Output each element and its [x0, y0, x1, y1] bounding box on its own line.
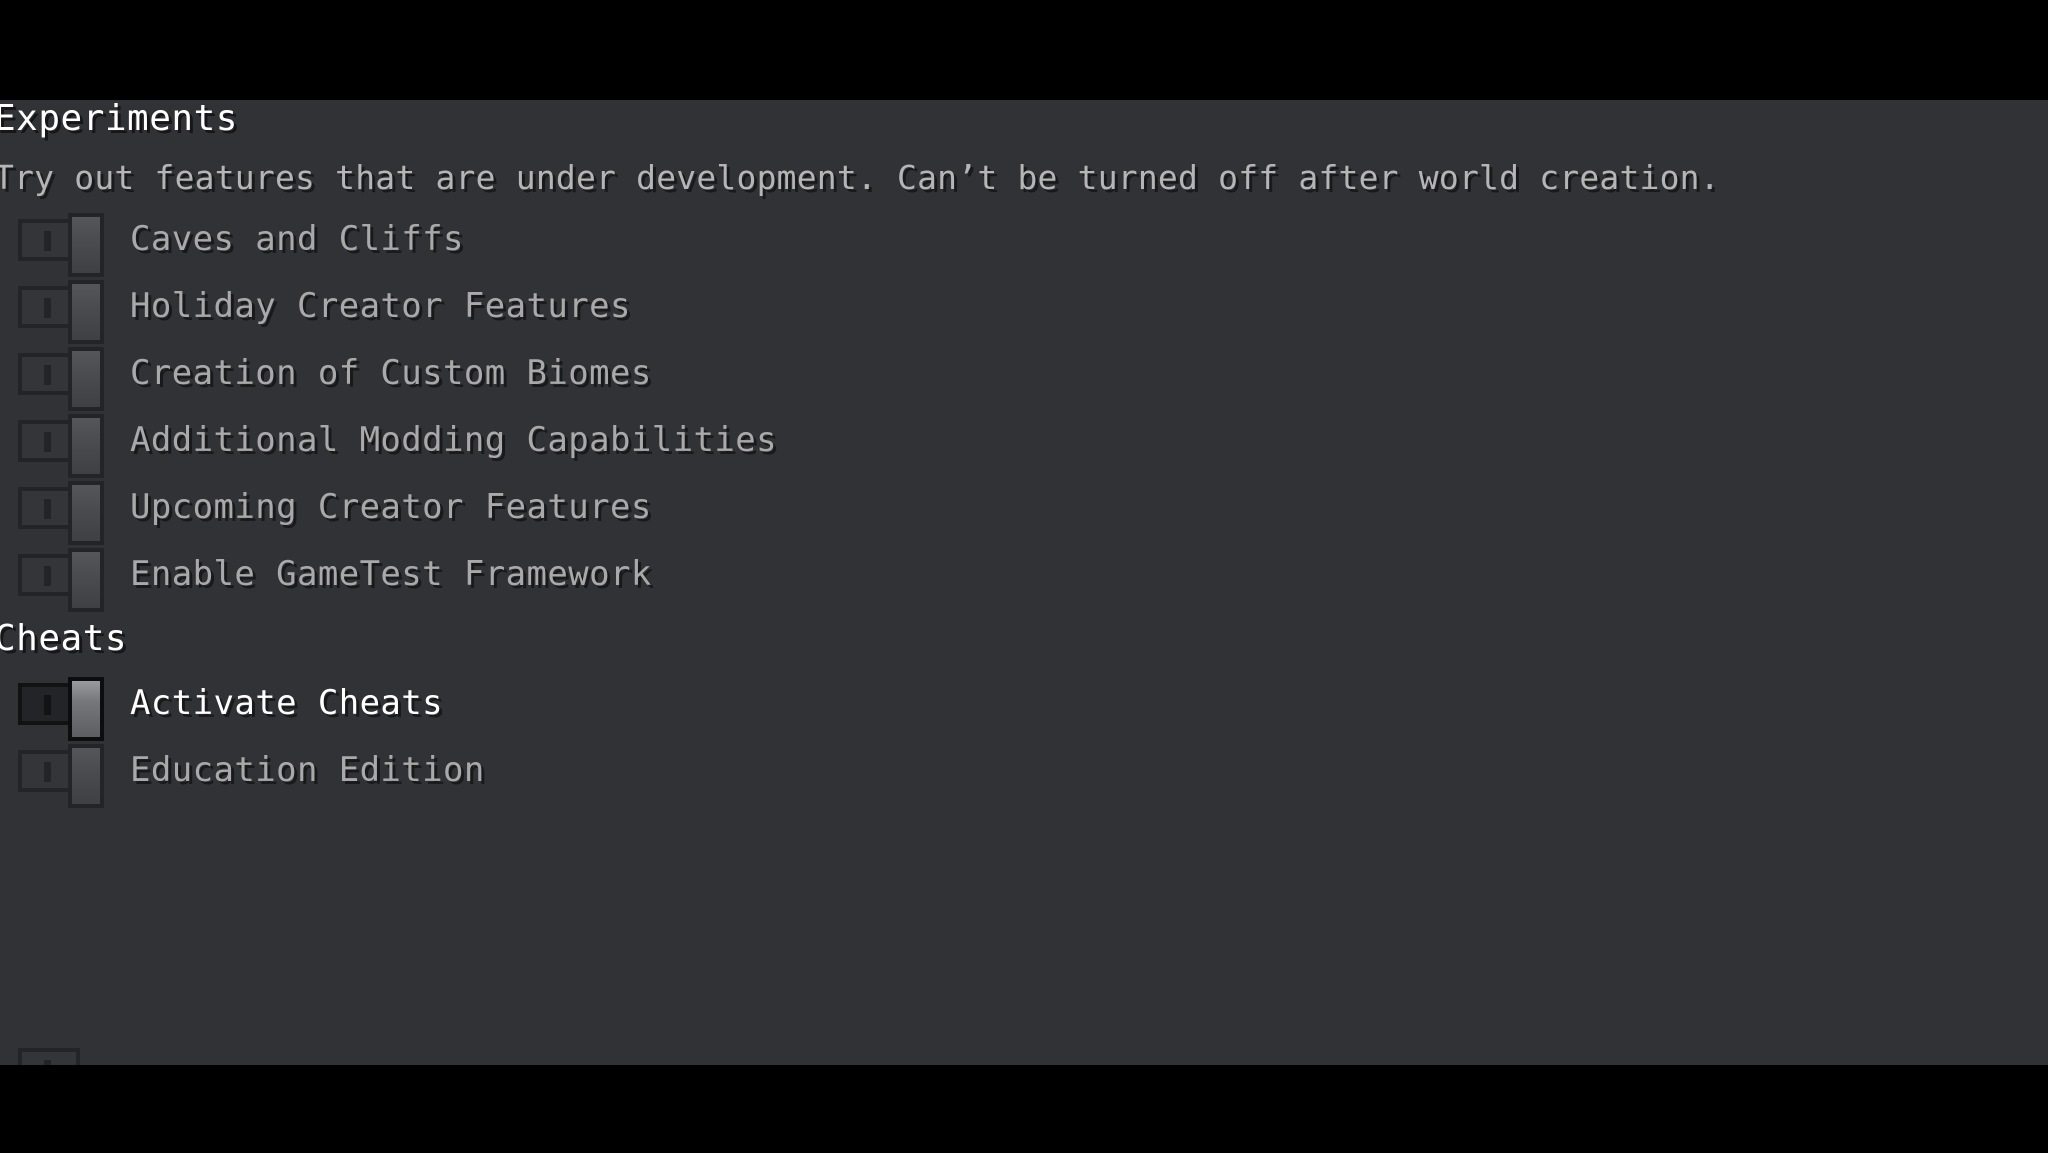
- toggle-row-enable-gametest-framework[interactable]: Enable GameTest Framework: [0, 543, 2048, 605]
- toggle-knob[interactable]: [68, 213, 104, 277]
- toggle-row-clipped-partial[interactable]: [0, 1042, 2048, 1065]
- toggle-row-creation-of-custom-biomes[interactable]: Creation of Custom Biomes: [0, 342, 2048, 404]
- toggle-switch-creation-of-custom-biomes[interactable]: [18, 347, 104, 399]
- toggle-knob[interactable]: [68, 347, 104, 411]
- toggle-knob[interactable]: [68, 744, 104, 808]
- toggle-switch-caves-and-cliffs[interactable]: [18, 213, 104, 265]
- toggle-label: Enable GameTest Framework: [130, 554, 652, 594]
- toggle-tick-icon: [44, 432, 51, 452]
- toggle-switch-enable-gametest-framework[interactable]: [18, 548, 104, 600]
- section-header-experiments: Experiments: [0, 100, 238, 139]
- toggle-tick-icon: [44, 695, 51, 715]
- toggle-tick-icon: [44, 231, 51, 251]
- toggle-label: Activate Cheats: [130, 683, 443, 723]
- section-description-experiments: Try out features that are under developm…: [0, 158, 1720, 197]
- letterbox-top: [0, 0, 2048, 100]
- toggle-switch-holiday-creator-features[interactable]: [18, 280, 104, 332]
- toggle-switch-additional-modding-capabilities[interactable]: [18, 414, 104, 466]
- letterbox-bottom: [0, 1065, 2048, 1153]
- toggle-tick-icon: [44, 298, 51, 318]
- toggle-switch-education-edition[interactable]: [18, 744, 104, 796]
- toggle-label: Additional Modding Capabilities: [130, 420, 777, 460]
- toggle-label: Education Edition: [130, 750, 485, 790]
- toggle-knob[interactable]: [68, 414, 104, 478]
- settings-scroll-viewport[interactable]: Experiments Try out features that are un…: [0, 100, 2048, 1065]
- toggle-label: Upcoming Creator Features: [130, 487, 652, 527]
- toggle-switch-upcoming-creator-features[interactable]: [18, 481, 104, 533]
- toggle-row-caves-and-cliffs[interactable]: Caves and Cliffs: [0, 208, 2048, 270]
- toggle-row-additional-modding-capabilities[interactable]: Additional Modding Capabilities: [0, 409, 2048, 471]
- toggle-knob[interactable]: [68, 280, 104, 344]
- toggle-row-holiday-creator-features[interactable]: Holiday Creator Features: [0, 275, 2048, 337]
- toggle-label: Holiday Creator Features: [130, 286, 631, 326]
- toggle-label: Caves and Cliffs: [130, 219, 464, 259]
- toggle-tick-icon: [44, 365, 51, 385]
- section-header-cheats: Cheats: [0, 618, 127, 659]
- toggle-row-education-edition[interactable]: Education Edition: [0, 739, 2048, 801]
- toggle-tick-icon: [44, 499, 51, 519]
- toggle-tick-icon: [44, 566, 51, 586]
- toggle-knob[interactable]: [68, 677, 104, 741]
- toggle-switch-clipped-partial[interactable]: [18, 1042, 104, 1065]
- toggle-knob[interactable]: [68, 481, 104, 545]
- toggle-tick-icon: [44, 762, 51, 782]
- game-screen: Experiments Try out features that are un…: [0, 0, 2048, 1153]
- toggle-switch-activate-cheats[interactable]: [18, 677, 104, 729]
- toggle-knob[interactable]: [68, 548, 104, 612]
- toggle-row-upcoming-creator-features[interactable]: Upcoming Creator Features: [0, 476, 2048, 538]
- toggle-row-activate-cheats[interactable]: Activate Cheats: [0, 672, 2048, 734]
- toggle-label: Creation of Custom Biomes: [130, 353, 652, 393]
